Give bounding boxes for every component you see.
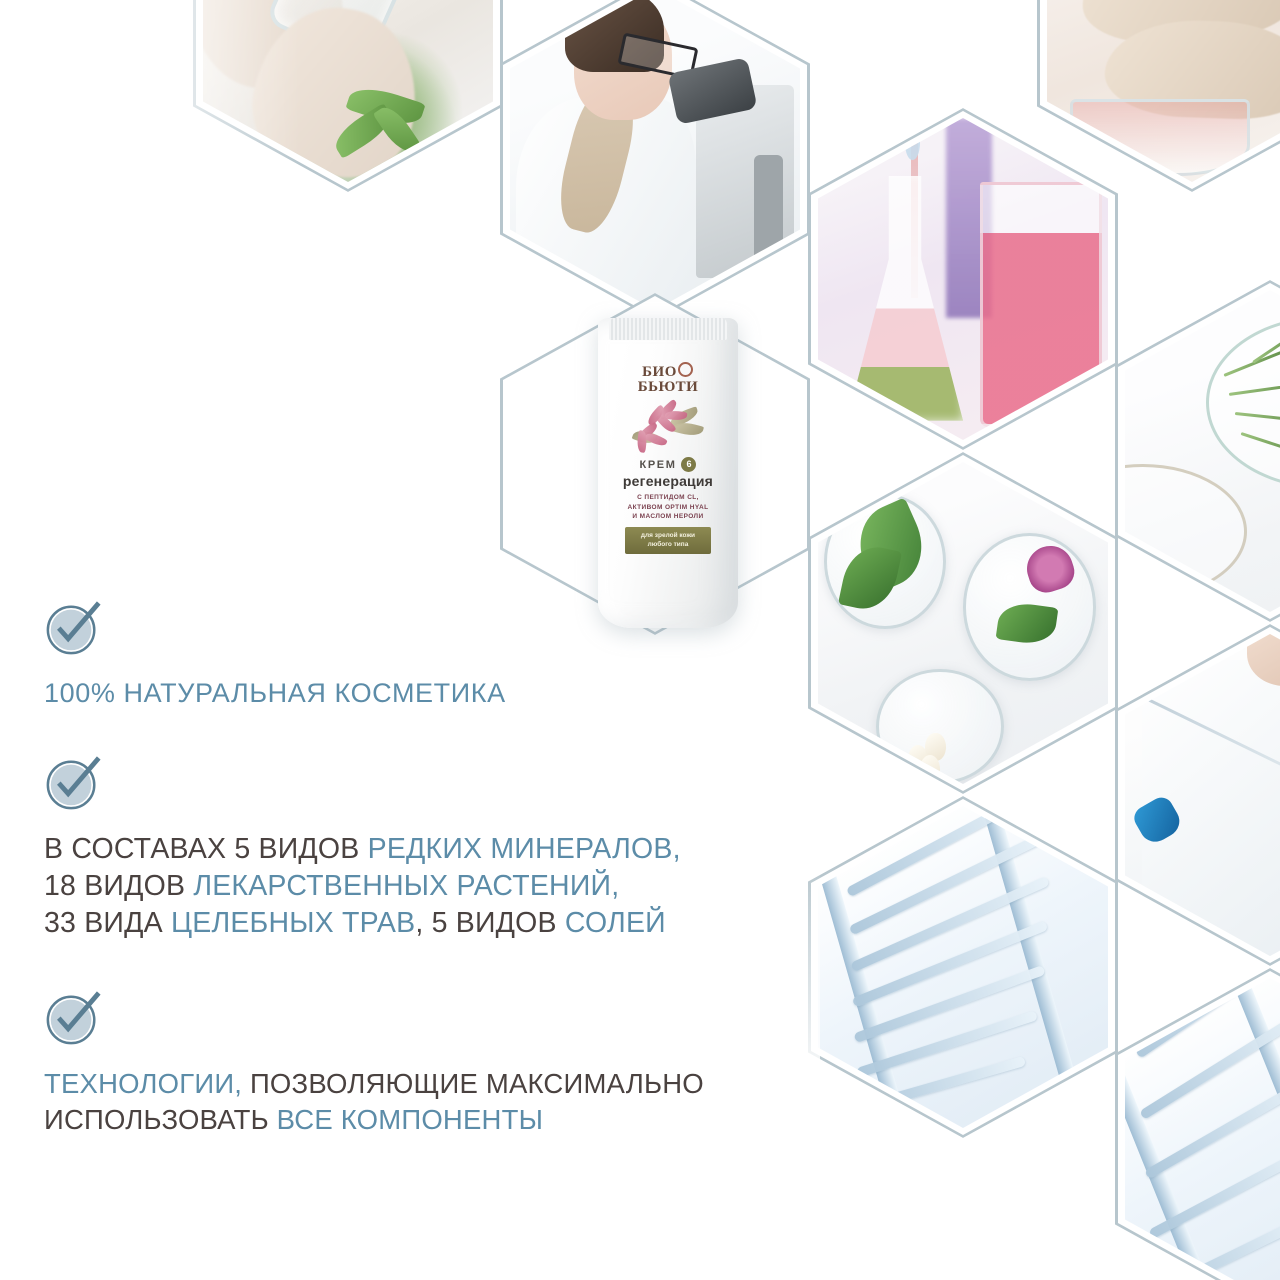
feature-line: ТЕХНОЛОГИИ, ПОЗВОЛЯЮЩИЕ МАКСИМАЛЬНО xyxy=(44,1066,834,1102)
ingredients-line-1: С ПЕПТИДОМ CL, xyxy=(615,493,721,502)
hex-photo xyxy=(1125,290,1280,612)
hex-photo xyxy=(1125,634,1280,956)
product-name: регенерация xyxy=(615,473,721,489)
feature-span: 33 ВИДА xyxy=(44,907,171,939)
brand-prefix: БИО xyxy=(642,364,677,380)
feature-list: 100% НАТУРАЛЬНАЯ КОСМЕТИКА В СОСТАВАХ 5 … xyxy=(44,600,834,1182)
tube-cap xyxy=(609,318,727,340)
hex-petri-dishes-herbs xyxy=(808,452,1118,794)
feature-span: 100% НАТУРАЛЬНАЯ КОСМЕТИКА xyxy=(44,678,506,708)
ingredients-line-3: И МАСЛОМ НЕРОЛИ xyxy=(615,512,721,521)
feature-span: 18 ВИДОВ xyxy=(44,870,193,902)
product-tube: БИОБЬЮТИ КРЕМ 6 регенер xyxy=(598,318,738,628)
hex-scientist-microscope xyxy=(500,0,810,320)
feature-item: В СОСТАВАХ 5 ВИДОВ РЕДКИХ МИНЕРАЛОВ, 18 … xyxy=(44,755,834,942)
feature-text: 100% НАТУРАЛЬНАЯ КОСМЕТИКА xyxy=(44,676,834,711)
check-circle-icon xyxy=(44,600,102,658)
cream-type-row: КРЕМ 6 xyxy=(615,457,721,472)
cream-type-label: КРЕМ xyxy=(640,459,677,471)
feature-span: РЕДКИХ МИНЕРАЛОВ, xyxy=(368,833,681,865)
feature-line: 18 ВИДОВ ЛЕКАРСТВЕННЫХ РАСТЕНИЙ, xyxy=(44,868,834,905)
feature-span: ТЕХНОЛОГИИ, xyxy=(44,1068,242,1099)
feature-span: ПОЗВОЛЯЮЩИЕ МАКСИМАЛЬНО xyxy=(242,1068,704,1099)
infographic-canvas: БИОБЬЮТИ КРЕМ 6 регенер xyxy=(0,0,1280,1280)
feature-line: 100% НАТУРАЛЬНАЯ КОСМЕТИКА xyxy=(44,676,834,711)
feature-text: ТЕХНОЛОГИИ, ПОЗВОЛЯЮЩИЕ МАКСИМАЛЬНО ИСПО… xyxy=(44,1066,834,1138)
check-circle-icon xyxy=(44,990,102,1048)
feature-line: 33 ВИДА ЦЕЛЕБНЫХ ТРАВ, 5 ВИДОВ СОЛЕЙ xyxy=(44,905,834,942)
hex-lab-pipette-hand xyxy=(1115,624,1280,966)
tube-label: БИОБЬЮТИ КРЕМ 6 регенер xyxy=(615,361,721,590)
feature-span: ИСПОЛЬЗОВАТЬ xyxy=(44,1104,277,1135)
brand-suffix: БЬЮТИ xyxy=(638,379,699,395)
feature-span: ВСЕ КОМПОНЕНТЫ xyxy=(277,1104,543,1135)
feature-span: ЦЕЛЕБНЫХ ТРАВ xyxy=(171,907,415,939)
tube-body: БИОБЬЮТИ КРЕМ 6 регенер xyxy=(598,318,738,628)
feature-span: СОЛЕЙ xyxy=(565,907,666,939)
hex-dna-helix-corner xyxy=(1115,968,1280,1280)
ingredients-line-2: АКТИВОМ OPTIM HYAL xyxy=(615,503,721,512)
feature-span: В СОСТАВАХ 5 ВИДОВ xyxy=(44,833,368,865)
cream-number-badge: 6 xyxy=(681,457,696,472)
hex-flasks-pink-purple xyxy=(808,108,1118,450)
feature-line: ИСПОЛЬЗОВАТЬ ВСЕ КОМПОНЕНТЫ xyxy=(44,1102,834,1138)
skin-type-line-2: любого типа xyxy=(627,540,710,549)
feature-text: В СОСТАВАХ 5 ВИДОВ РЕДКИХ МИНЕРАЛОВ, 18 … xyxy=(44,831,834,942)
hex-dna-helix xyxy=(808,796,1118,1138)
check-circle-icon xyxy=(44,755,102,813)
hex-photo xyxy=(203,0,493,182)
ingredients-block: С ПЕПТИДОМ CL, АКТИВОМ OPTIM HYAL И МАСЛ… xyxy=(615,493,721,521)
hex-gloved-hands-flask-plant xyxy=(193,0,503,192)
feature-span: ЛЕКАРСТВЕННЫХ РАСТЕНИЙ, xyxy=(193,870,619,902)
skin-type-line-1: для зрелой кожи xyxy=(627,531,710,540)
feature-item: 100% НАТУРАЛЬНАЯ КОСМЕТИКА xyxy=(44,600,834,711)
brand-logo: БИОБЬЮТИ xyxy=(615,361,721,395)
hex-petri-rosemary-sprig xyxy=(1115,280,1280,622)
feature-line: В СОСТАВАХ 5 ВИДОВ РЕДКИХ МИНЕРАЛОВ, xyxy=(44,831,834,868)
hex-gloved-hand-pipette-dish xyxy=(1037,0,1280,192)
flower-o-icon xyxy=(678,362,693,377)
skin-type-band: для зрелой кожи любого типа xyxy=(625,527,712,554)
feature-span: , 5 ВИДОВ xyxy=(415,907,565,939)
feature-item: ТЕХНОЛОГИИ, ПОЗВОЛЯЮЩИЕ МАКСИМАЛЬНО ИСПО… xyxy=(44,990,834,1138)
flower-illustration xyxy=(615,397,721,455)
